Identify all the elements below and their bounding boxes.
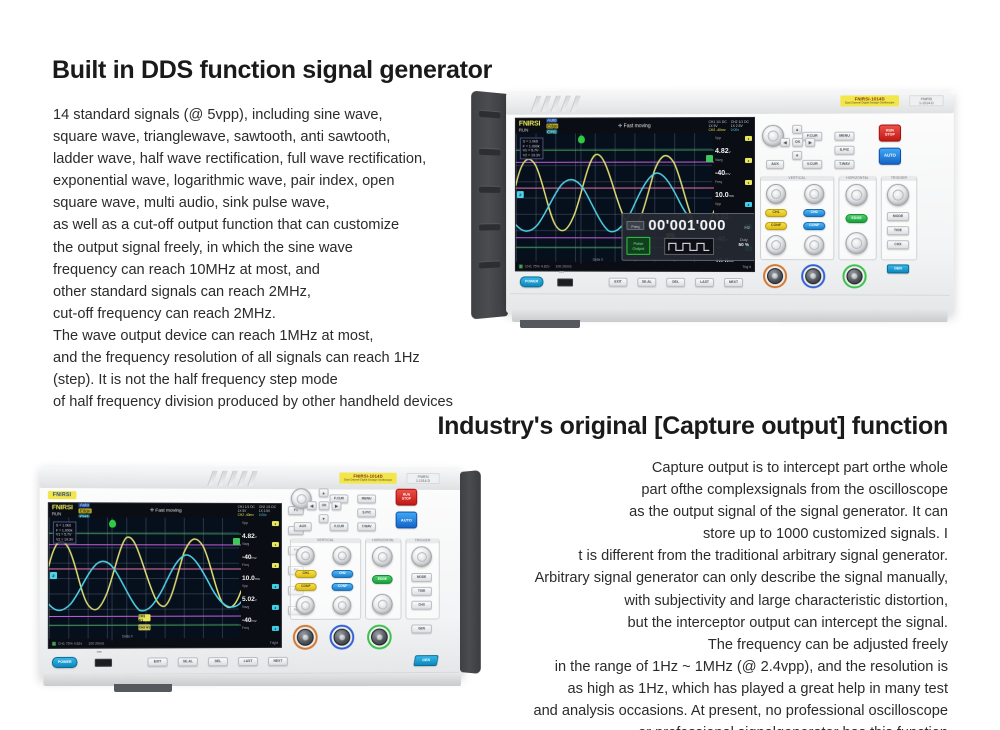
tag-auto: Auto (79, 502, 90, 507)
model-sticker: FNIRSI-1014D Dual Channel Digital Storag… (339, 473, 396, 484)
trigger-level-marker[interactable] (233, 538, 240, 545)
tag-edge: Edge (546, 124, 559, 129)
menu-icon-ch1: 1 (272, 542, 279, 547)
menu-icon-ch2: 2 (272, 605, 279, 610)
waveform-plot-area: S = 1.0kS F = 1.000k V1 = 5.7V V2 = 19.3… (49, 517, 241, 640)
horizontal-scale-knob[interactable] (845, 232, 867, 254)
button-run-stop[interactable]: RUNSTOP (879, 124, 901, 141)
menu-icon-ch2: 2 (272, 626, 279, 631)
paragraph-line: with subjectivity and large characterist… (533, 590, 948, 612)
button-vcur[interactable]: V.CUR (802, 160, 822, 169)
corner-label: FNIRSI 1-1014-D (909, 95, 944, 106)
corner-label: FNIRSI 1-1014-D (406, 473, 439, 484)
usb-icon: ⎓ (559, 270, 564, 277)
button-chx[interactable]: CHX (887, 240, 909, 249)
button-tige[interactable]: TIGE (887, 226, 909, 235)
section-capture-title: Industry's original [Capture output] fun… (438, 412, 948, 441)
button-gen-blue[interactable]: GEN (413, 655, 438, 666)
paragraph-line: ladder wave, half wave rectification, fu… (53, 148, 453, 170)
button-next[interactable]: NEXT (268, 657, 288, 666)
button-ch1[interactable]: CH1 (295, 570, 317, 578)
screen-brand-logo: FNIRSI (519, 120, 540, 127)
paragraph-line: as high as 1Hz, which has played a great… (533, 678, 948, 700)
screen-status-bar: FNIRSI RUN Auto Edge CH1 ✛ Fast moving (49, 503, 281, 518)
ch1-position-knob[interactable] (766, 184, 786, 204)
button-spic[interactable]: S.PIC (357, 508, 376, 517)
usb-port[interactable] (95, 659, 112, 667)
paragraph-line: or professional signalgenerator has this… (533, 722, 948, 730)
frequency-output-overlay[interactable]: Freq 00'001'000 Hz Pulse Output Duty (622, 213, 756, 261)
paragraph-line: in the range of 1Hz ~ 1MHz (@ 2.4vpp), a… (533, 656, 948, 678)
menu-cell-vpp-ch1[interactable]: Vpp 4.82v 1 (239, 519, 281, 539)
paragraph-line: as the output signal of the signal gener… (533, 501, 948, 523)
button-seal[interactable]: SE.AL (637, 278, 656, 287)
button-nav-down[interactable]: ▼ (319, 514, 329, 523)
button-nav-left[interactable]: ◀ (307, 501, 317, 510)
paragraph-line: but the interceptor output can intercept… (533, 612, 948, 634)
bnc-connector-ch1[interactable] (293, 625, 318, 650)
button-spic[interactable]: S.PIC (834, 146, 854, 155)
frequency-unit: Hz (744, 225, 750, 230)
frequency-value: 00'001'000 (648, 217, 726, 234)
button-nav-right[interactable]: ▶ (805, 138, 815, 147)
button-edge[interactable]: EDGE (372, 575, 393, 584)
button-power[interactable]: POWER (520, 276, 544, 287)
bnc-connector-ch2[interactable] (801, 264, 825, 288)
menu-icon-ch2: 2 (745, 202, 752, 207)
paragraph-line: t is different from the traditional arbi… (533, 545, 948, 567)
button-menu[interactable]: MENU (357, 494, 376, 503)
paragraph-line: store up to 1000 customized signals. I (533, 523, 948, 545)
button-aux[interactable]: AUX (766, 160, 784, 169)
paragraph-line: the output signal freely, in which the s… (53, 237, 453, 259)
crosshair-icon: ✛ (618, 123, 622, 129)
button-ok[interactable]: OK (792, 138, 803, 147)
menu-icon-ch1: 1 (272, 521, 279, 526)
brand-badge: FNIRSI (48, 491, 77, 499)
bnc-connector-ext[interactable] (367, 625, 392, 650)
menu-icon-ch1: 1 (272, 563, 279, 568)
button-nav-left[interactable]: ◀ (780, 138, 790, 147)
tag-edge: Edge (79, 508, 91, 513)
pulse-output-button[interactable]: Pulse Output (626, 237, 650, 255)
paragraph-line: exponential wave, logarithmic wave, pair… (53, 170, 453, 192)
crosshair-icon: ✛ (150, 508, 154, 513)
tag-auto: Auto (546, 118, 557, 123)
paragraph-line: (step). It is not the half frequency ste… (53, 369, 453, 391)
freq-chip-label[interactable]: Freq (626, 221, 644, 230)
ch1-position-knob[interactable] (296, 546, 315, 565)
paragraph-line: part ofthe complexsignals from the oscil… (533, 479, 948, 501)
measurement-readout-box: S = 1.0kS F = 1.000k V1 = 5.7V V2 = 19.3… (520, 137, 544, 159)
section-dds-title: Built in DDS function signal generator (52, 56, 492, 85)
run-status: RUN (519, 127, 540, 132)
ch2-scale-knob[interactable] (804, 235, 824, 255)
trigger-level-marker[interactable] (706, 155, 713, 162)
face-divider (510, 293, 950, 296)
trigger-marker-icon[interactable] (109, 520, 116, 528)
paragraph-line: and analysis occasions. At present, no p… (533, 700, 948, 722)
ch2-position-knob[interactable] (333, 546, 352, 565)
channel-info-right: CH2 1/1 DC 1X 2.5V 0.00v (259, 505, 276, 517)
device-base (44, 674, 461, 686)
button-gen-gray[interactable]: GEN (411, 624, 432, 633)
screen-brand-logo: FNIRSI (52, 504, 73, 511)
button-aux[interactable]: AUX (294, 522, 312, 531)
duty-cycle-readout[interactable]: Duty 50 % (739, 238, 749, 247)
menu-cell-freq-ch1[interactable]: Freq 10.0ms 1 (239, 561, 281, 581)
button-gen[interactable]: GEN (887, 264, 909, 273)
button-seal[interactable]: SE.AL (178, 657, 198, 666)
menu-cell-vpp-ch2[interactable]: Vpp 5.02v 2 (239, 582, 281, 602)
button-ch2[interactable]: CH2 (332, 570, 354, 578)
paragraph-line: cut-off frequency can reach 2MHz. (53, 303, 453, 325)
paragraph-line: other standard signals can reach 2MHz, (53, 281, 453, 303)
paragraph-line: as well as a cut-off output function tha… (53, 214, 453, 236)
button-vcur[interactable]: V.CUR (330, 522, 349, 531)
horizontal-position-knob[interactable] (845, 184, 867, 206)
paragraph-line: Capture output is to intercept part orth… (533, 457, 948, 479)
button-ch2[interactable]: CH2 (803, 209, 825, 217)
button-del[interactable]: DEL (666, 278, 685, 287)
screen-center-label: ✛ Fast moving (93, 508, 237, 514)
usb-icon: ⎓ (97, 650, 102, 657)
bnc-connector-ext[interactable] (842, 264, 866, 288)
screen-menu-strip: Vpp 4.82v 1 Vavg -40mv 1 Freq 10.0ms 1 (239, 518, 281, 640)
ch2-position-marker[interactable]: 2 (517, 191, 524, 198)
ch2-scale-knob[interactable] (333, 596, 352, 615)
device-side-panel (460, 470, 481, 674)
square-wave-preview (664, 238, 714, 255)
ch1-scale-knob[interactable] (766, 235, 786, 255)
button-ok[interactable]: OK (319, 501, 330, 510)
paragraph-line: square wave, multi audio, sink pulse wav… (53, 192, 453, 214)
button-tige[interactable]: TIGE (411, 587, 432, 596)
button-del[interactable]: DEL (208, 657, 228, 666)
paragraph-line: and the frequency resolution of all sign… (53, 347, 453, 369)
channel-info-right: CH2 1/1 DC 1X 2.5V 0.00v (731, 119, 749, 131)
model-subtitle: Dual Channel Digital Storage Oscilloscop… (339, 479, 396, 482)
ch2-position-marker[interactable]: 2 (50, 572, 57, 579)
paragraph-line: square wave, trianglewave, sawtooth, ant… (53, 126, 453, 148)
x-axis-label: Delta X (122, 634, 133, 638)
waveform-traces (49, 517, 241, 640)
device-foot-left (114, 684, 172, 692)
button-twav[interactable]: T.WAV (357, 522, 376, 531)
section-capture-paragraph: Capture output is to intercept part orth… (533, 457, 948, 730)
button-nav-up[interactable]: ▲ (792, 125, 802, 134)
trigger-marker-icon[interactable] (578, 135, 585, 143)
section-dds-paragraph: 14 standard signals (@ 5vpp), including … (53, 104, 453, 413)
device-front-face: FNIRSI-1014D Dual Channel Digital Storag… (40, 467, 463, 680)
button-chx[interactable]: CHX (411, 601, 432, 610)
menu-icon-ch1: 1 (745, 180, 752, 185)
paragraph-line: of half frequency division produced by o… (53, 391, 453, 413)
button-exit[interactable]: EXIT (147, 657, 167, 666)
oscilloscope-device-2: FNIRSI-1014D Dual Channel Digital Storag… (36, 462, 486, 702)
button-last[interactable]: LAST (238, 657, 258, 666)
bnc-connector-ch1[interactable] (763, 264, 787, 288)
button-edge[interactable]: EDGE (845, 214, 867, 223)
menu-icon-ch1: 1 (745, 136, 752, 141)
device-side-panel (471, 90, 508, 319)
horizontal-scale-knob[interactable] (372, 594, 393, 615)
paragraph-line: 14 standard signals (@ 5vpp), including … (53, 104, 453, 126)
ch2-position-knob[interactable] (804, 184, 824, 204)
button-nav-down[interactable]: ▼ (792, 151, 802, 160)
button-run-stop[interactable]: RUNSTOP (396, 489, 418, 506)
button-next[interactable]: NEXT (724, 278, 743, 287)
trigger-level-knob[interactable] (887, 184, 909, 206)
oscilloscope-screen[interactable]: FNIRSI RUN Auto Edge CH1 (515, 117, 755, 272)
bnc-connector-ch2[interactable] (330, 625, 355, 650)
device-top-lid: FNIRSI-1014D Dual Channel Digital Storag… (40, 467, 463, 490)
menu-cell-vavg-ch1[interactable]: Vavg -40mv 1 (712, 156, 754, 177)
channel-info-left: CH1 1/1 DC 1X 5V CH2 -40mv (708, 120, 726, 132)
horizontal-position-knob[interactable] (372, 546, 393, 567)
model-subtitle: Dual Channel Digital Storage Oscilloscop… (840, 102, 899, 105)
button-ch1-conf[interactable]: CONF (295, 583, 317, 591)
marketing-page: Built in DDS function signal generator 1… (0, 0, 1000, 730)
button-exit[interactable]: EXIT (609, 278, 628, 287)
x-axis-label: Delta X (593, 258, 603, 262)
screen-status-bar: FNIRSI RUN Auto Edge CH1 (516, 118, 754, 134)
paragraph-line: The wave output device can reach 1MHz at… (53, 325, 453, 347)
button-last[interactable]: LAST (695, 278, 714, 287)
usb-port[interactable] (557, 278, 573, 286)
paragraph-line: The frequency can be adjusted freely (533, 634, 948, 656)
button-auto[interactable]: AUTO (396, 512, 418, 529)
paragraph-line: Arbitrary signal generator can only desc… (533, 567, 948, 589)
ch1-cursor-label[interactable]: CH1 4/1 (138, 614, 150, 621)
button-auto[interactable]: AUTO (879, 148, 901, 165)
button-nav-up[interactable]: ▲ (319, 488, 329, 497)
channel-info-left: CH1 1/1 DC 1X 5V CH2 -40mv (238, 505, 255, 517)
button-mode[interactable]: MODE (411, 573, 432, 582)
paragraph-line: frequency can reach 10MHz at most, and (53, 259, 453, 281)
button-nav-right[interactable]: ▶ (332, 501, 342, 510)
button-twav[interactable]: T.WAV (834, 160, 854, 169)
menu-cell-vpp-ch1[interactable]: Vpp 4.82v 1 (712, 134, 754, 155)
device-foot-left (520, 320, 580, 328)
button-ch1[interactable]: CH1 (765, 209, 787, 217)
run-status: RUN (52, 511, 73, 516)
ch2-cursor-label[interactable]: CH2 4/1 (138, 624, 150, 630)
ch1-scale-knob[interactable] (296, 596, 315, 615)
menu-icon-ch2: 2 (272, 584, 279, 589)
oscilloscope-device-1: FNIRSI-1014D Dual Channel Digital Storag… (466, 88, 966, 333)
measurement-readout-box: S = 1.0kS F = 1.000k V1 = 5.7V V2 = 19.3… (53, 521, 76, 544)
menu-cell-freq-ch1[interactable]: Freq 10.0ms 1 (712, 178, 754, 199)
menu-cell-vavg-ch2[interactable]: Vavg -40mv 2 (239, 603, 281, 623)
button-ch2-conf[interactable]: CONF (332, 583, 354, 591)
trigger-level-knob[interactable] (411, 546, 432, 567)
menu-icon-ch1: 1 (745, 158, 752, 163)
button-power[interactable]: POWER (52, 657, 78, 668)
device-top-lid: FNIRSI-1014D Dual Channel Digital Storag… (506, 91, 954, 115)
model-sticker: FNIRSI-1014D Dual Channel Digital Storag… (840, 95, 899, 106)
menu-cell-vavg-ch1[interactable]: Vavg -40mv 1 (239, 540, 281, 560)
device-front-face: FNIRSI-1014D Dual Channel Digital Storag… (506, 91, 954, 315)
button-ch2-conf[interactable]: CONF (803, 222, 825, 230)
oscilloscope-screen[interactable]: FNIRSI RUN Auto Edge CH1 ✛ Fast moving (48, 502, 282, 649)
button-mode[interactable]: MODE (887, 212, 909, 221)
button-menu[interactable]: MENU (834, 132, 854, 141)
screen-center-label: ✛ Fast moving (561, 123, 709, 129)
button-ch1-conf[interactable]: CONF (765, 222, 787, 230)
